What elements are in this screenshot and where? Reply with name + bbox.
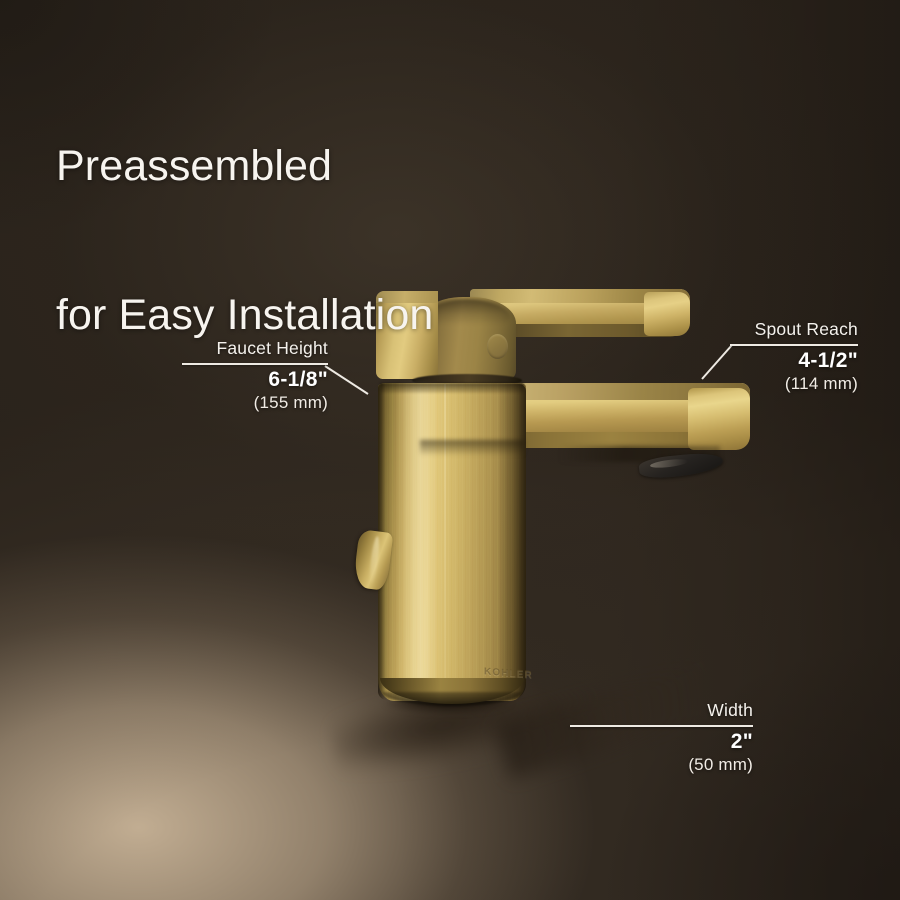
faucet-body-base-shadow <box>382 692 522 706</box>
faucet-lever-tip <box>644 292 690 336</box>
callout-faucet-height-label: Faucet Height <box>182 338 328 359</box>
callout-width-metric: (50 mm) <box>570 755 753 775</box>
callout-spout-reach-label: Spout Reach <box>730 319 858 340</box>
faucet-body-right-edge <box>498 384 526 700</box>
callout-spout-reach: Spout Reach 4-1/2" (114 mm) <box>730 319 858 394</box>
callout-spout-reach-rule <box>730 344 858 346</box>
faucet-spout-tip <box>688 388 750 450</box>
callout-spout-reach-value: 4-1/2" <box>730 349 858 373</box>
faucet-hub-button <box>487 334 508 359</box>
callout-width-rule <box>570 725 753 727</box>
faucet-body-inner-cut-shadow <box>420 440 524 456</box>
callout-faucet-height: Faucet Height 6-1/8" (155 mm) <box>182 338 328 413</box>
faucet-body-facet-line <box>444 384 446 700</box>
product-dimension-graphic: KOHLER Preassembled for Easy Installatio… <box>0 0 900 900</box>
callout-width-label: Width <box>570 700 753 721</box>
callout-width: Width 2" (50 mm) <box>570 700 753 775</box>
callout-faucet-height-value: 6-1/8" <box>182 368 328 392</box>
headline-line-2: for Easy Installation <box>56 291 433 341</box>
callout-width-value: 2" <box>570 730 753 754</box>
headline-line-1: Preassembled <box>56 142 433 192</box>
callout-faucet-height-rule <box>182 363 328 365</box>
callout-spout-reach-metric: (114 mm) <box>730 374 858 394</box>
callout-faucet-height-metric: (155 mm) <box>182 393 328 413</box>
